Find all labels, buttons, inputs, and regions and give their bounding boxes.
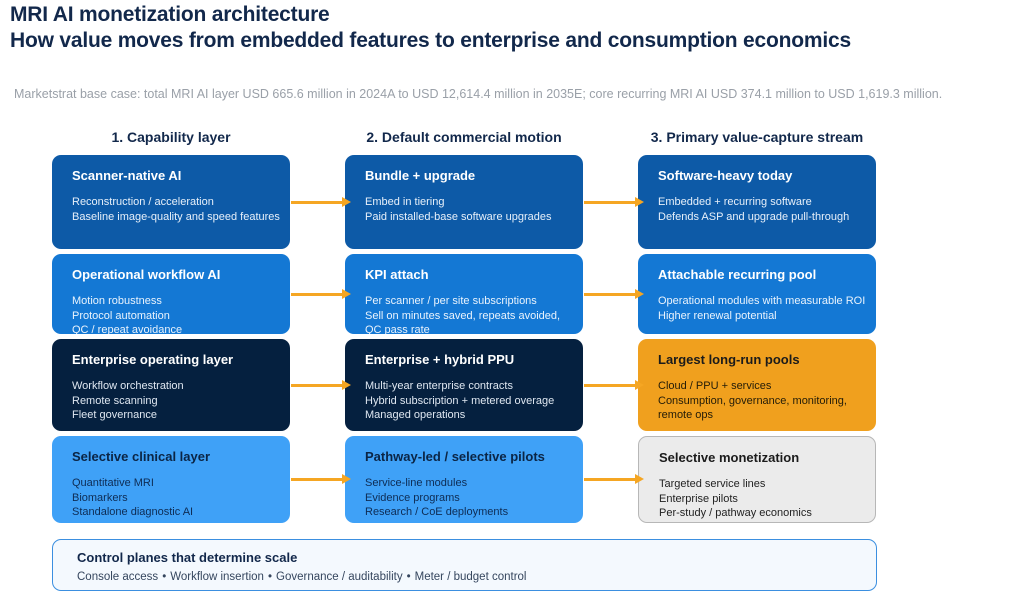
- card-line: Embedded + recurring software: [658, 195, 860, 210]
- card-software-heavy-today[interactable]: Software-heavy today Embedded + recurrin…: [638, 155, 876, 249]
- card-line: Sell on minutes saved, repeats avoided,: [365, 309, 567, 324]
- card-line: Remote scanning: [72, 394, 274, 409]
- card-line: Consumption, governance, monitoring,: [658, 394, 860, 409]
- card-enterprise-hybrid-ppu[interactable]: Enterprise + hybrid PPU Multi-year enter…: [345, 339, 583, 431]
- card-line: Enterprise pilots: [659, 492, 859, 507]
- arrow-right-icon: [291, 473, 351, 485]
- card-title: Selective clinical layer: [72, 449, 274, 465]
- column-heading-default-commercial-motion: 2. Default commercial motion: [345, 129, 583, 145]
- card-line: Embed in tiering: [365, 195, 567, 210]
- card-kpi-attach[interactable]: KPI attach Per scanner / per site subscr…: [345, 254, 583, 334]
- card-bundle-upgrade[interactable]: Bundle + upgrade Embed in tiering Paid i…: [345, 155, 583, 249]
- card-attachable-recurring-pool[interactable]: Attachable recurring pool Operational mo…: [638, 254, 876, 334]
- bullet-separator-icon: •: [158, 571, 170, 583]
- card-line: Research / CoE deployments: [365, 505, 567, 520]
- card-title: Pathway-led / selective pilots: [365, 449, 567, 465]
- card-title: Software-heavy today: [658, 168, 860, 184]
- card-line: Biomarkers: [72, 491, 274, 506]
- card-body: Quantitative MRI Biomarkers Standalone d…: [72, 476, 274, 520]
- control-plane-item: Governance / auditability: [276, 571, 403, 583]
- card-line: Per-study / pathway economics: [659, 506, 859, 521]
- card-body: Operational modules with measurable ROI …: [658, 294, 860, 323]
- arrow-right-icon: [584, 288, 644, 300]
- card-line: Managed operations: [365, 408, 567, 423]
- card-line: QC pass rate: [365, 323, 567, 334]
- card-body: Multi-year enterprise contracts Hybrid s…: [365, 379, 567, 423]
- arrow-right-icon: [584, 473, 644, 485]
- card-title: Bundle + upgrade: [365, 168, 567, 184]
- card-line: Operational modules with measurable ROI: [658, 294, 860, 309]
- card-body: Motion robustness Protocol automation QC…: [72, 294, 274, 334]
- card-title: Selective monetization: [659, 450, 859, 466]
- card-line: Per scanner / per site subscriptions: [365, 294, 567, 309]
- column-heading-primary-value-capture-stream: 3. Primary value-capture stream: [638, 129, 876, 145]
- card-line: Multi-year enterprise contracts: [365, 379, 567, 394]
- control-plane-item: Workflow insertion: [170, 571, 264, 583]
- control-planes-items: Console access•Workflow insertion•Govern…: [77, 569, 876, 585]
- card-body: Cloud / PPU + services Consumption, gove…: [658, 379, 860, 423]
- control-plane-item: Meter / budget control: [415, 571, 527, 583]
- card-line: Standalone diagnostic AI: [72, 505, 274, 520]
- card-line: Reconstruction / acceleration: [72, 195, 274, 210]
- card-line: Higher renewal potential: [658, 309, 860, 324]
- card-operational-workflow-ai[interactable]: Operational workflow AI Motion robustnes…: [52, 254, 290, 334]
- card-body: Embed in tiering Paid installed-base sof…: [365, 195, 567, 224]
- card-title: KPI attach: [365, 267, 567, 283]
- card-line: Motion robustness: [72, 294, 274, 309]
- card-line: Cloud / PPU + services: [658, 379, 860, 394]
- page-title-line-2: How value moves from embedded features t…: [10, 28, 1020, 54]
- card-title: Enterprise + hybrid PPU: [365, 352, 567, 368]
- card-body: Workflow orchestration Remote scanning F…: [72, 379, 274, 423]
- card-selective-clinical-layer[interactable]: Selective clinical layer Quantitative MR…: [52, 436, 290, 523]
- bullet-separator-icon: •: [403, 571, 415, 583]
- card-pathway-led-selective-pilots[interactable]: Pathway-led / selective pilots Service-l…: [345, 436, 583, 523]
- card-line: Workflow orchestration: [72, 379, 274, 394]
- card-largest-long-run-pools[interactable]: Largest long-run pools Cloud / PPU + ser…: [638, 339, 876, 431]
- page-title-line-1: MRI AI monetization architecture: [10, 2, 1020, 28]
- card-line: QC / repeat avoidance: [72, 323, 274, 334]
- card-line: Service-line modules: [365, 476, 567, 491]
- card-line: Defends ASP and upgrade pull-through: [658, 210, 860, 225]
- card-body: Service-line modules Evidence programs R…: [365, 476, 567, 520]
- card-scanner-native-ai[interactable]: Scanner-native AI Reconstruction / accel…: [52, 155, 290, 249]
- card-title: Attachable recurring pool: [658, 267, 860, 283]
- arrow-right-icon: [584, 196, 644, 208]
- card-body: Embedded + recurring software Defends AS…: [658, 195, 860, 224]
- card-body: Reconstruction / acceleration Baseline i…: [72, 195, 274, 224]
- card-title: Scanner-native AI: [72, 168, 274, 184]
- card-title: Enterprise operating layer: [72, 352, 274, 368]
- bullet-separator-icon: •: [264, 571, 276, 583]
- control-planes-panel: Control planes that determine scale Cons…: [52, 539, 877, 591]
- card-line: Evidence programs: [365, 491, 567, 506]
- page-subtitle: Marketstrat base case: total MRI AI laye…: [14, 86, 942, 102]
- control-planes-title: Control planes that determine scale: [77, 549, 876, 566]
- arrow-right-icon: [584, 379, 644, 391]
- card-title: Operational workflow AI: [72, 267, 274, 283]
- card-body: Targeted service lines Enterprise pilots…: [659, 477, 859, 521]
- control-plane-item: Console access: [77, 571, 158, 583]
- card-line: Quantitative MRI: [72, 476, 274, 491]
- card-line: Targeted service lines: [659, 477, 859, 492]
- arrow-right-icon: [291, 379, 351, 391]
- page-header: MRI AI monetization architecture How val…: [10, 2, 1020, 54]
- card-body: Per scanner / per site subscriptions Sel…: [365, 294, 567, 334]
- card-line: Baseline image-quality and speed feature…: [72, 210, 274, 225]
- card-line: Fleet governance: [72, 408, 274, 423]
- card-line: remote ops: [658, 408, 860, 423]
- card-line: Protocol automation: [72, 309, 274, 324]
- column-heading-capability-layer: 1. Capability layer: [52, 129, 290, 145]
- card-title: Largest long-run pools: [658, 352, 860, 368]
- card-selective-monetization[interactable]: Selective monetization Targeted service …: [638, 436, 876, 523]
- card-enterprise-operating-layer[interactable]: Enterprise operating layer Workflow orch…: [52, 339, 290, 431]
- arrow-right-icon: [291, 288, 351, 300]
- card-line: Hybrid subscription + metered overage: [365, 394, 567, 409]
- card-line: Paid installed-base software upgrades: [365, 210, 567, 225]
- arrow-right-icon: [291, 196, 351, 208]
